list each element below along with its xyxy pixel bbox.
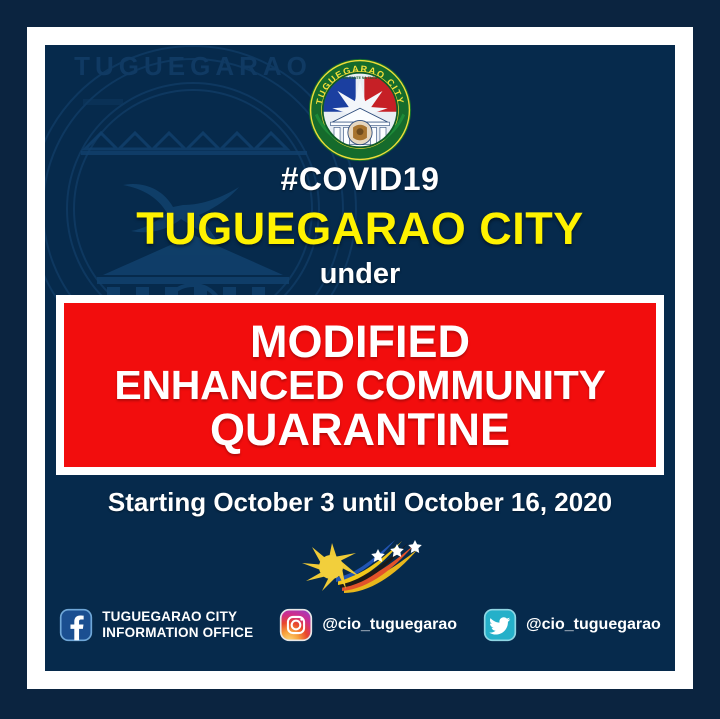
quarantine-line-1: MODIFIED <box>250 319 470 364</box>
twitter-icon[interactable] <box>483 608 517 642</box>
instagram-handle: @cio_tuguegarao <box>322 616 457 635</box>
social-media-footer: TUGUEGARAO CITY INFORMATION OFFICE <box>45 608 675 642</box>
instagram-icon[interactable] <box>279 608 313 642</box>
covid-hashtag: #COVID19 <box>45 161 675 198</box>
poster-content-area: TUGUEGARAO <box>45 45 675 671</box>
quarantine-status-banner-inner: MODIFIED ENHANCED COMMUNITY QUARANTINE <box>64 303 656 467</box>
covid-advisory-poster: TUGUEGARAO <box>0 0 720 719</box>
facebook-icon[interactable] <box>59 608 93 642</box>
twitter-handle: @cio_tuguegarao <box>526 616 661 635</box>
social-item-instagram[interactable]: @cio_tuguegarao <box>279 608 457 642</box>
quarantine-status-banner: MODIFIED ENHANCED COMMUNITY QUARANTINE <box>56 295 664 475</box>
city-seal-container: TUGUEGARAO CITY REPUBLIC OF THE PHILIPPI… <box>45 58 675 162</box>
social-item-twitter[interactable]: @cio_tuguegarao <box>483 608 661 642</box>
quarantine-line-2: ENHANCED COMMUNITY <box>114 365 605 406</box>
social-item-facebook[interactable]: TUGUEGARAO CITY INFORMATION OFFICE <box>59 608 253 642</box>
quarantine-line-3: QUARANTINE <box>210 407 510 452</box>
city-name-heading: TUGUEGARAO CITY <box>45 203 675 255</box>
philippine-logo-container <box>45 537 675 593</box>
effective-date-range: Starting October 3 until October 16, 202… <box>45 487 675 518</box>
svg-text:MILITANTE NA TAGA: MILITANTE NA TAGA <box>343 76 378 80</box>
philippine-sun-swoosh-icon <box>298 537 422 593</box>
tuguegarao-city-seal-icon: TUGUEGARAO CITY REPUBLIC OF THE PHILIPPI… <box>308 58 412 162</box>
connector-word: under <box>45 258 675 291</box>
facebook-page-name: TUGUEGARAO CITY INFORMATION OFFICE <box>102 609 253 641</box>
